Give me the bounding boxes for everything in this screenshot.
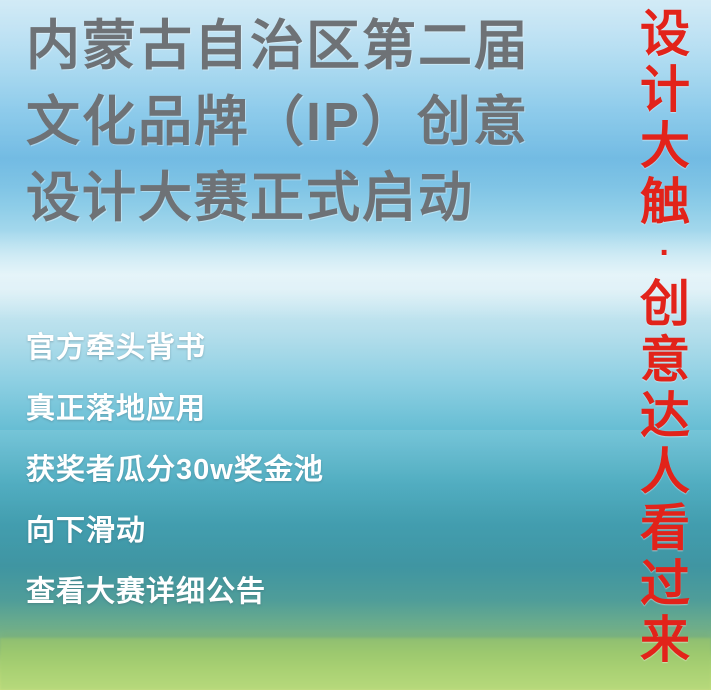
bullet-item-2: 真正落地应用 <box>26 379 586 440</box>
vertical-banner: 设 计 大 触 · 创 意 达 人 看 过 来 <box>629 6 701 666</box>
bullet-list: 官方牵头背书 真正落地应用 获奖者瓜分30w奖金池 向下滑动 查看大赛详细公告 <box>26 318 586 623</box>
bullet-item-1: 官方牵头背书 <box>26 318 586 379</box>
vertical-char-9: 看 <box>640 500 690 556</box>
bullet-item-4: 向下滑动 <box>26 501 586 562</box>
headline-line-2: 文化品牌（IP）创意 <box>26 84 586 160</box>
horizon-haze <box>0 230 711 320</box>
bullet-item-5: 查看大赛详细公告 <box>26 562 586 623</box>
vertical-char-1: 设 <box>640 6 690 62</box>
vertical-char-5: 创 <box>640 276 690 332</box>
poster-image: 内蒙古自治区第二届 文化品牌（IP）创意 设计大赛正式启动 官方牵头背书 真正落… <box>0 0 711 690</box>
bullet-item-3: 获奖者瓜分30w奖金池 <box>26 440 586 501</box>
headline-block: 内蒙古自治区第二届 文化品牌（IP）创意 设计大赛正式启动 <box>26 8 586 236</box>
vertical-char-3: 大 <box>640 118 690 174</box>
vertical-char-separator: · <box>659 230 670 276</box>
headline-line-1: 内蒙古自治区第二届 <box>26 8 586 84</box>
vertical-char-7: 达 <box>640 388 690 444</box>
vertical-char-8: 人 <box>640 444 690 500</box>
headline-line-3: 设计大赛正式启动 <box>26 160 586 236</box>
vertical-char-10: 过 <box>640 556 690 612</box>
grass-strip <box>0 638 711 690</box>
vertical-char-11: 来 <box>640 612 690 668</box>
vertical-char-4: 触 <box>640 174 690 230</box>
vertical-char-6: 意 <box>640 332 690 388</box>
vertical-char-2: 计 <box>640 62 690 118</box>
